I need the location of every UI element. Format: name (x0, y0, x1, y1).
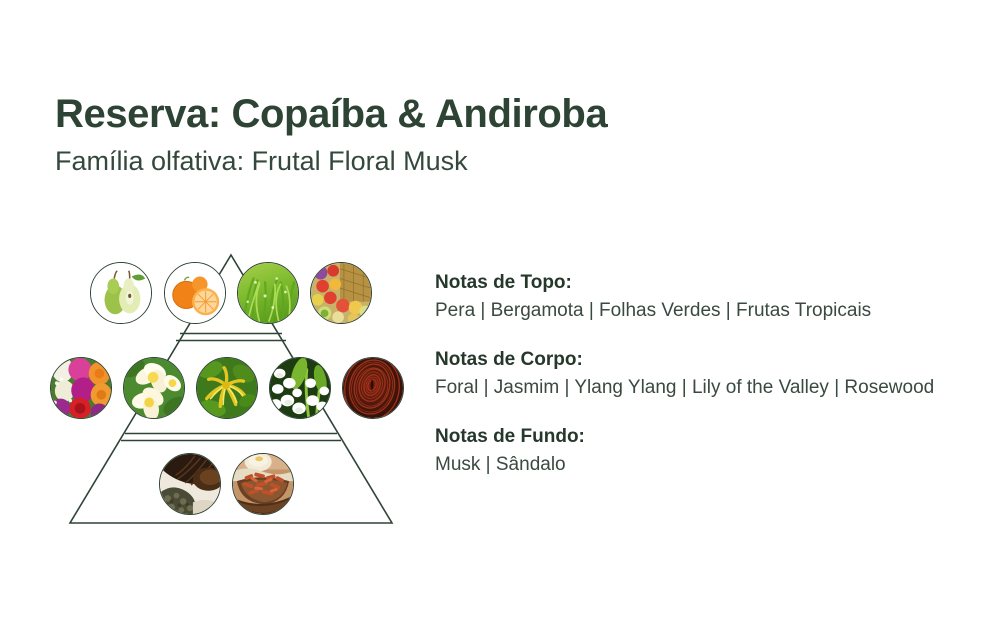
pyramid-circle-ylang-ylang[interactable] (196, 357, 258, 419)
pyramid-circle-bergamota[interactable] (164, 262, 226, 324)
pear-photo (91, 263, 151, 323)
ylang-ylang-photo (197, 358, 257, 418)
pyramid-circle-lily-of-the-valley[interactable] (269, 357, 331, 419)
note-heading-top: Notas de Topo: (435, 272, 975, 294)
note-heading-base: Notas de Fundo: (435, 426, 975, 448)
musk-photo (160, 454, 220, 514)
pyramid-circle-sandalo[interactable] (232, 453, 294, 515)
fragrance-pyramid (40, 240, 420, 540)
orange-photo (165, 263, 225, 323)
note-values-heart: Foral | Jasmim | Ylang Ylang | Lily of t… (435, 377, 975, 399)
tropical-fruit-photo (311, 263, 371, 323)
note-heading-heart: Notas de Corpo: (435, 349, 975, 371)
note-group-base: Notas de Fundo: Musk | Sândalo (435, 426, 975, 476)
flower-bouquet-photo (51, 358, 111, 418)
pyramid-circle-jasmim[interactable] (123, 357, 185, 419)
note-values-base: Musk | Sândalo (435, 454, 975, 476)
note-group-heart: Notas de Corpo: Foral | Jasmim | Ylang Y… (435, 349, 975, 399)
pyramid-circle-rosewood[interactable] (342, 357, 404, 419)
page-title: Reserva: Copaíba & Andiroba (55, 92, 607, 136)
olfactive-family-subtitle: Família olfativa: Frutal Floral Musk (55, 146, 607, 177)
plumeria-photo (124, 358, 184, 418)
notes-list: Notas de Topo: Pera | Bergamota | Folhas… (435, 272, 975, 476)
pyramid-circle-foral[interactable] (50, 357, 112, 419)
pyramid-circle-musk[interactable] (159, 453, 221, 515)
green-grass-photo (238, 263, 298, 323)
note-values-top: Pera | Bergamota | Folhas Verdes | Fruta… (435, 300, 975, 322)
note-group-top: Notas de Topo: Pera | Bergamota | Folhas… (435, 272, 975, 322)
pyramid-circle-frutas-tropicais[interactable] (310, 262, 372, 324)
header-block: Reserva: Copaíba & Andiroba Família olfa… (55, 92, 607, 177)
rosewood-grain-photo (343, 358, 403, 418)
pyramid-circle-pera[interactable] (90, 262, 152, 324)
pyramid-circle-folhas-verdes[interactable] (237, 262, 299, 324)
lily-of-the-valley-photo (270, 358, 330, 418)
sandalwood-photo (233, 454, 293, 514)
